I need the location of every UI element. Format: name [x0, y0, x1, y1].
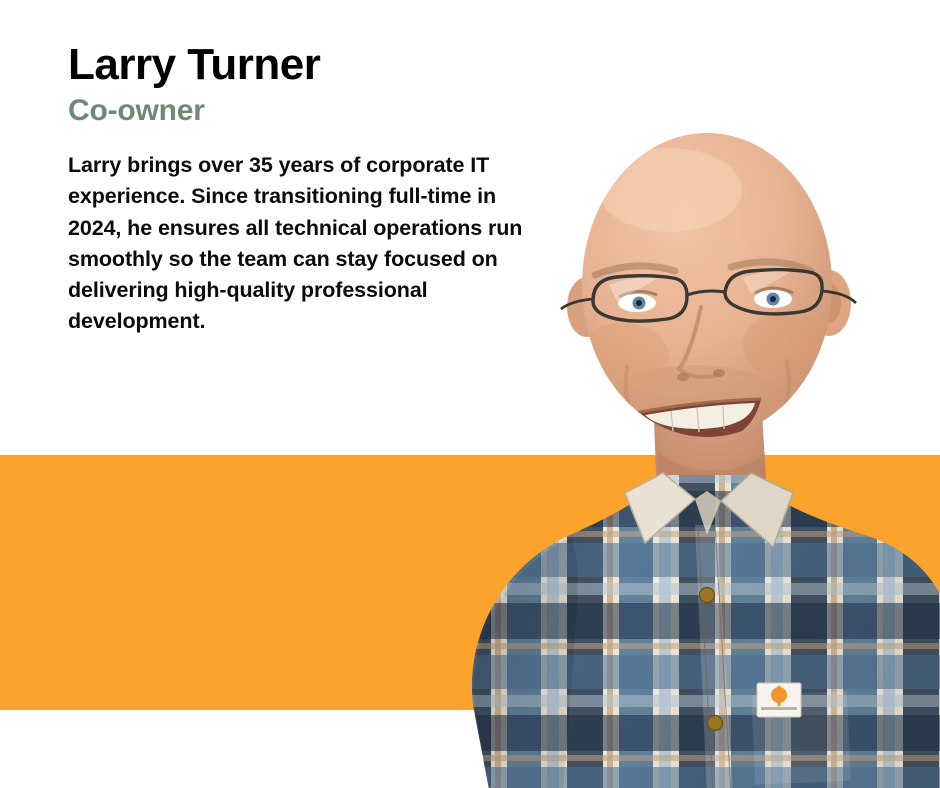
lens-glare — [609, 278, 657, 301]
page-title: Larry Turner — [68, 42, 538, 88]
lens-glare — [743, 271, 791, 294]
glasses-icon — [561, 270, 856, 321]
bio-text-column: Larry Turner Co-owner Larry brings over … — [68, 42, 538, 337]
person-bio-text: Larry brings over 35 years of corporate … — [68, 150, 538, 337]
head — [561, 133, 856, 485]
person-role: Co-owner — [68, 94, 538, 128]
bio-card: Larry Turner Co-owner Larry brings over … — [0, 0, 940, 788]
orange-accent-band — [0, 455, 940, 710]
